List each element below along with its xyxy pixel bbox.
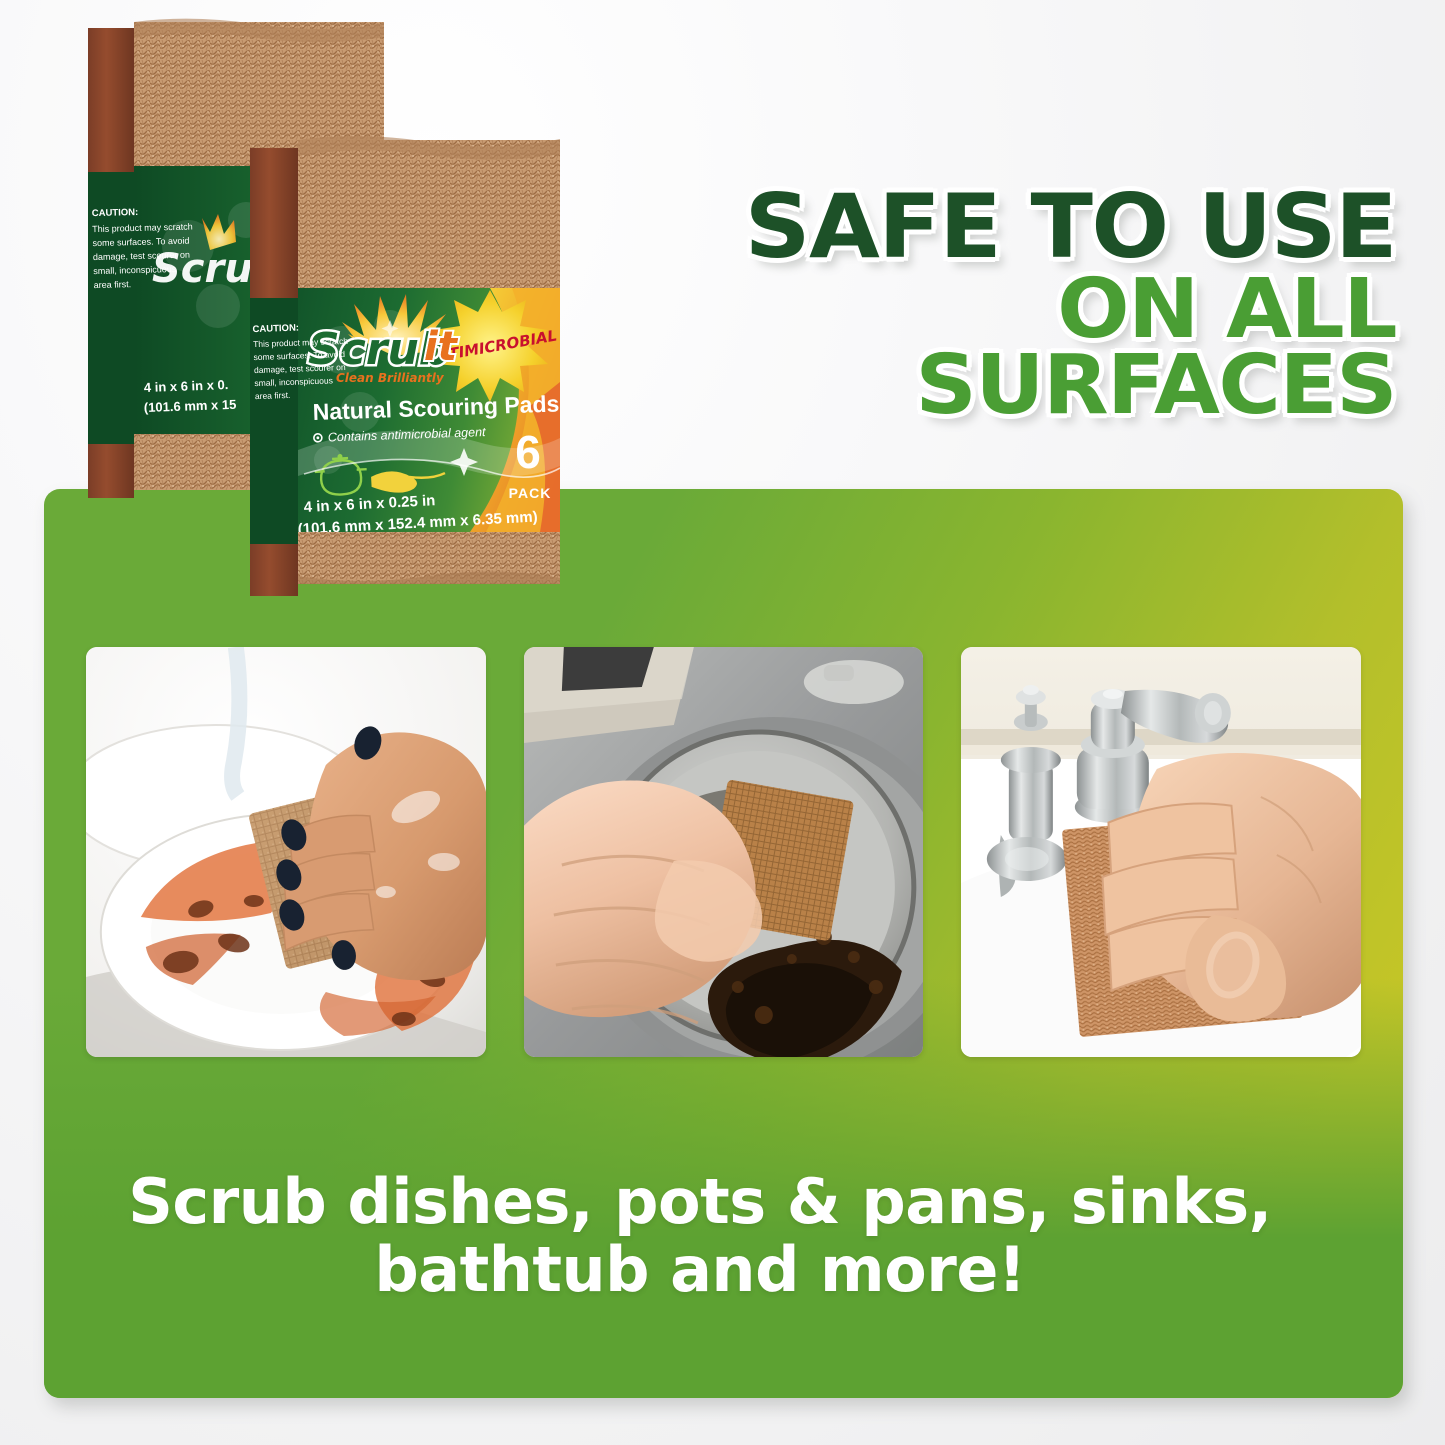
tagline: Scrub dishes, pots & pans, sinks, bathtu… — [110, 1168, 1290, 1304]
usage-photo-row — [86, 647, 1361, 1057]
svg-text:area first.: area first. — [255, 390, 291, 401]
svg-text:area first.: area first. — [94, 279, 132, 290]
pack-count-number: 6 — [515, 426, 541, 478]
headline-line-2: ON ALL SURFACES — [564, 272, 1396, 425]
svg-text:CAUTION:: CAUTION: — [252, 323, 299, 336]
photo-scrubbing-burnt-pan — [524, 647, 924, 1057]
pack-count-label: PACK — [509, 485, 552, 501]
headline-line-1: SAFE TO USE — [564, 186, 1396, 268]
headline: SAFE TO USE ON ALL SURFACES — [596, 186, 1396, 424]
product-box-front: ANTIMICROBIAL Scrub Scrub it it Clean Br… — [250, 136, 560, 596]
brand-tagline-text: Clean Brilliantly — [336, 371, 445, 385]
svg-text:CAUTION:: CAUTION: — [92, 207, 139, 219]
photo-washing-dirty-plate — [86, 647, 486, 1057]
svg-text:it: it — [424, 324, 459, 370]
tagline-line-1: Scrub dishes, pots & pans, sinks, — [128, 1165, 1272, 1238]
svg-text:4 in x 6 in x 0.: 4 in x 6 in x 0. — [144, 377, 229, 395]
tagline-line-2: bathtub and more! — [110, 1236, 1290, 1304]
photo-cleaning-sink-faucet — [961, 647, 1361, 1057]
product-package-stack: CAUTION: This product may scratch some s… — [60, 20, 620, 610]
